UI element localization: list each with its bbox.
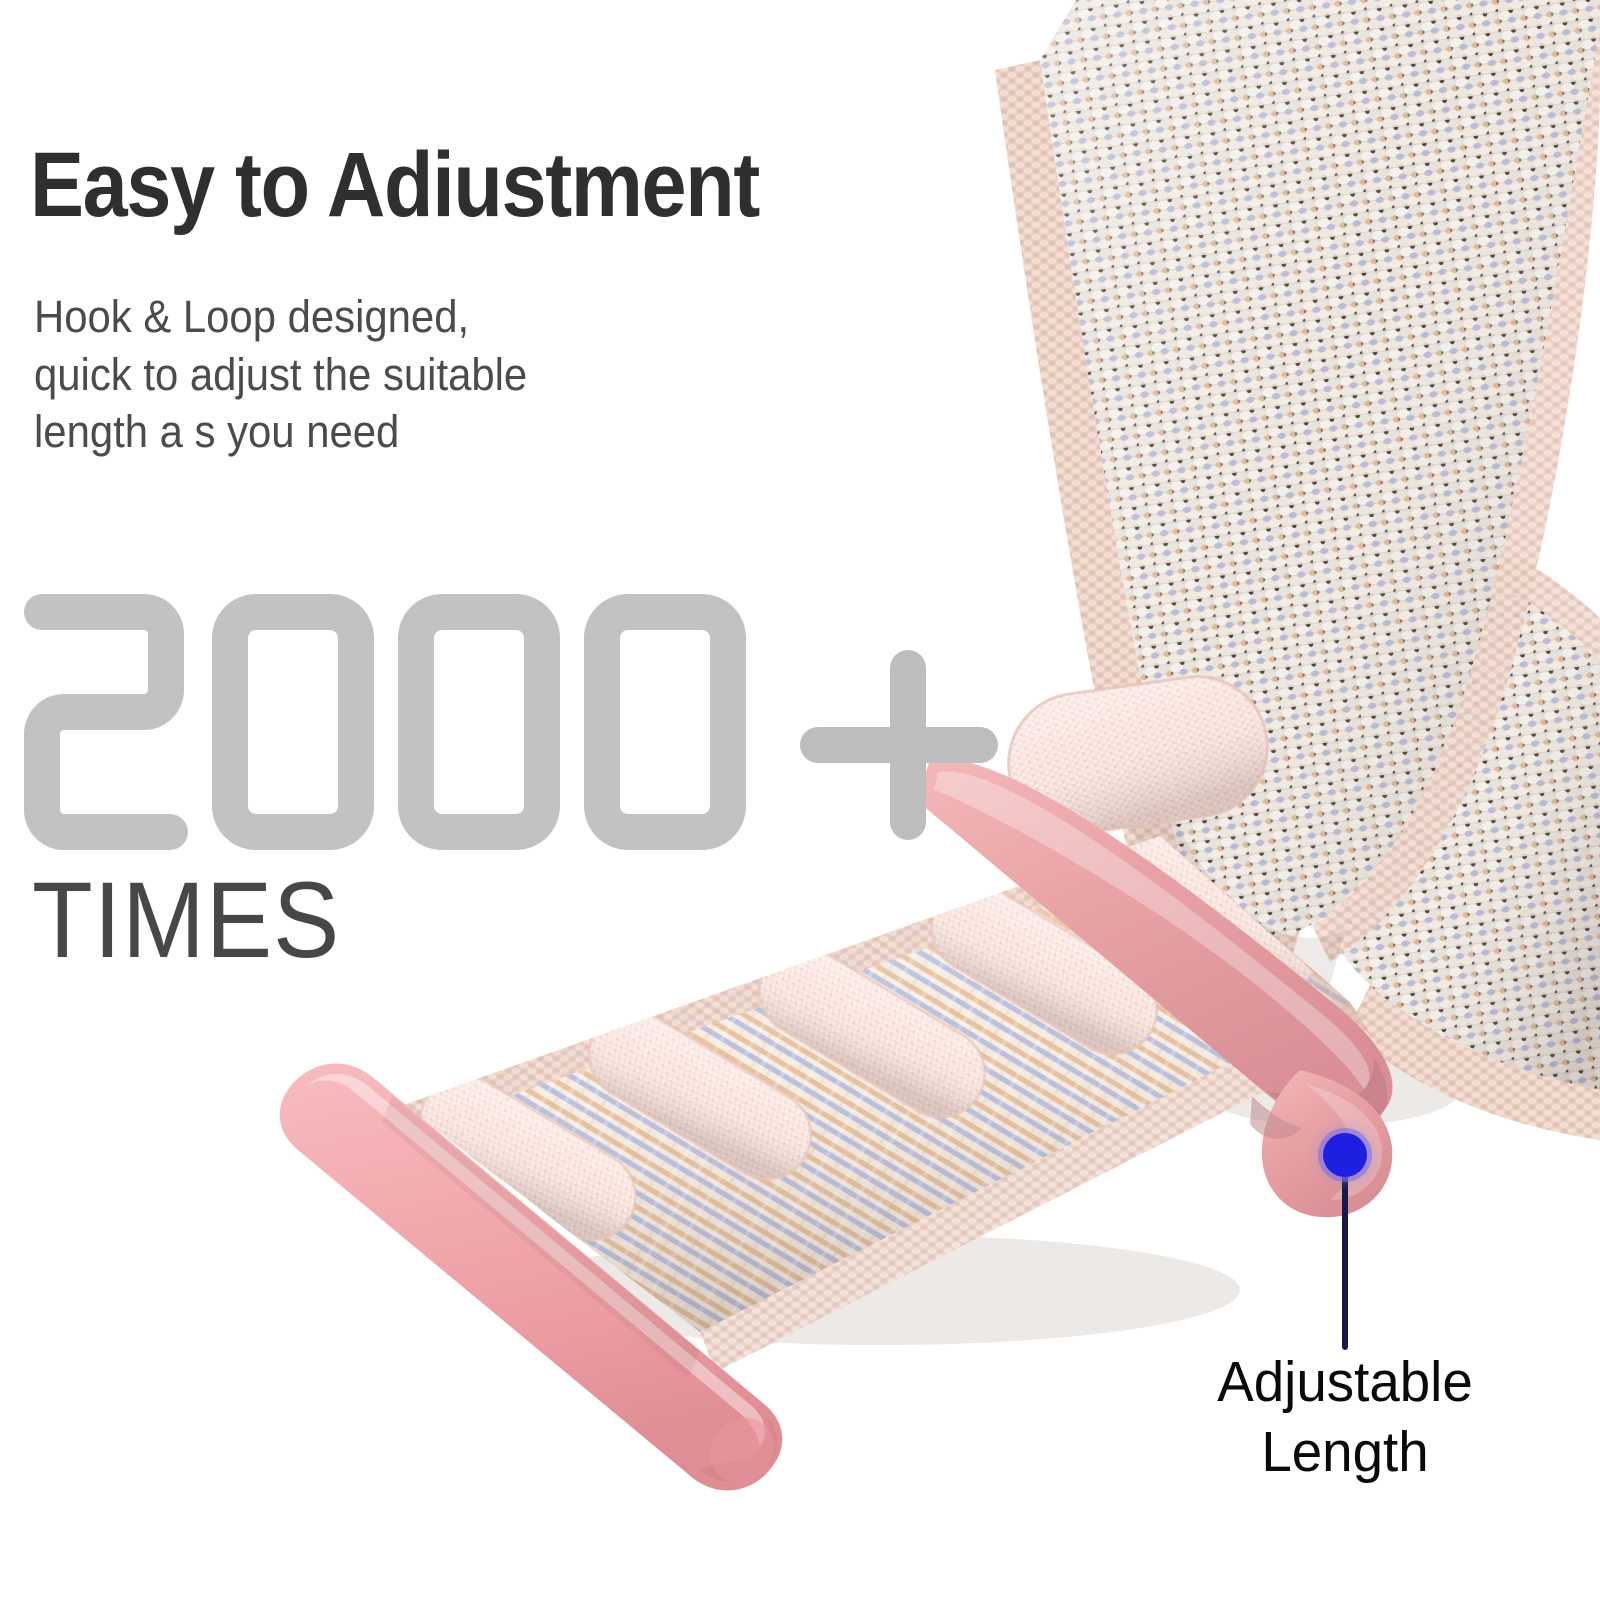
callout-marker-dot [1323,1133,1367,1177]
callout-label: Adjustable Length [1182,1348,1508,1487]
product-feature-banner: Easy to Adiustment Hook & Loop designed,… [0,0,1600,1600]
callout-leader-line [1342,1172,1348,1350]
page-title: Easy to Adiustment [30,139,759,231]
page-subtitle: Hook & Loop designed, quick to adjust th… [34,288,527,461]
stat-unit-label: TIMES [32,866,340,974]
